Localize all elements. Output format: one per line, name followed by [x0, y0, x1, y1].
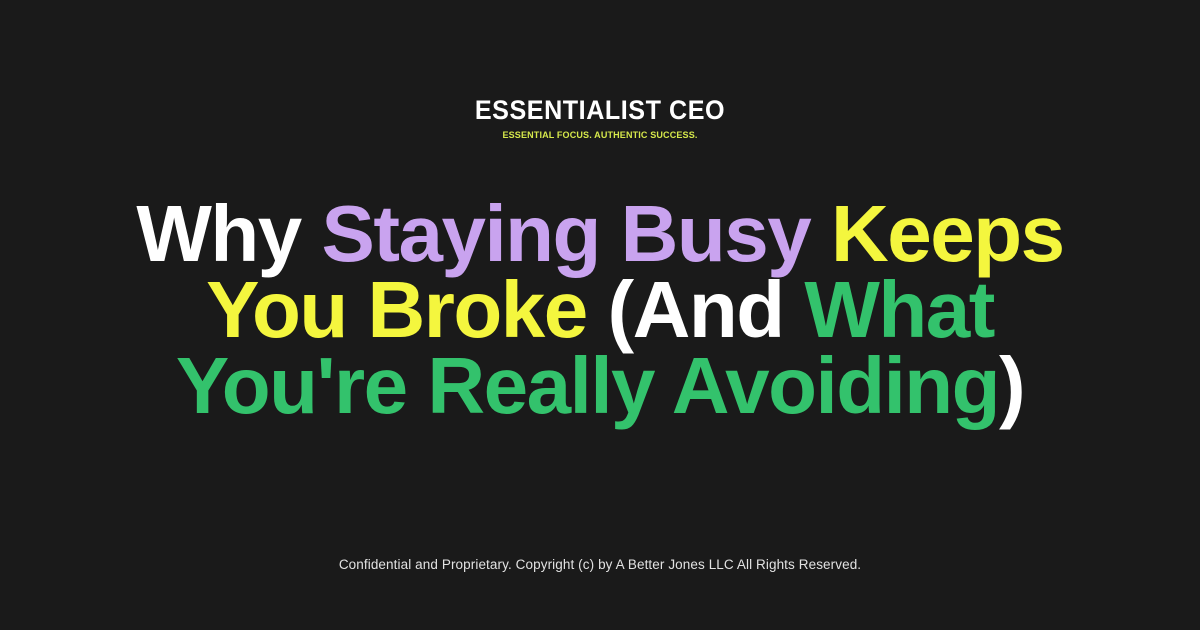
page-title: Why Staying Busy Keeps You Broke (And Wh…: [60, 196, 1140, 424]
headline-segment-youre-really-avoiding: You're Really Avoiding: [176, 341, 999, 430]
headline-line-1: Why Staying Busy Keeps: [60, 196, 1140, 272]
footer-copyright: Confidential and Proprietary. Copyright …: [0, 557, 1200, 572]
headline-line-3: You're Really Avoiding): [60, 348, 1140, 424]
headline-segment-close-paren: ): [999, 341, 1024, 430]
brand-tagline: ESSENTIAL FOCUS. AUTHENTIC SUCCESS.: [30, 131, 1170, 141]
brand-logo: ESSENTIALIST CEO ESSENTIAL FOCUS. AUTHEN…: [0, 96, 1200, 141]
headline-line-2: You Broke (And What: [60, 272, 1140, 348]
title-slide: ESSENTIALIST CEO ESSENTIAL FOCUS. AUTHEN…: [0, 0, 1200, 630]
brand-name: ESSENTIALIST CEO: [42, 96, 1158, 124]
